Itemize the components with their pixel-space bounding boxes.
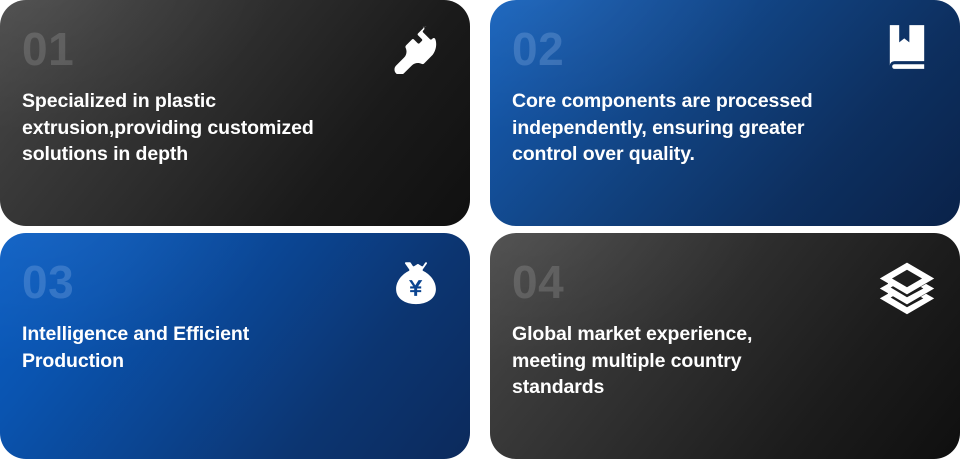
card-number: 04 — [512, 259, 930, 305]
feature-card-04[interactable]: 04 Global market experience, meeting mul… — [490, 233, 960, 459]
feature-card-03[interactable]: 03 Intelligence and Efficient Production — [0, 233, 470, 459]
feature-cards-grid: 01 Specialized in plastic extrusion,prov… — [0, 0, 960, 459]
card-number: 02 — [512, 26, 930, 72]
card-number: 01 — [22, 26, 440, 72]
card-text: Global market experience, meeting multip… — [512, 321, 930, 401]
card-text: Specialized in plastic extrusion,providi… — [22, 88, 440, 168]
card-text: Core components are processed independen… — [512, 88, 930, 168]
card-number: 03 — [22, 259, 440, 305]
feature-card-01[interactable]: 01 Specialized in plastic extrusion,prov… — [0, 0, 470, 226]
feature-card-02[interactable]: 02 Core components are processed indepen… — [490, 0, 960, 226]
card-text: Intelligence and Efficient Production — [22, 321, 440, 374]
